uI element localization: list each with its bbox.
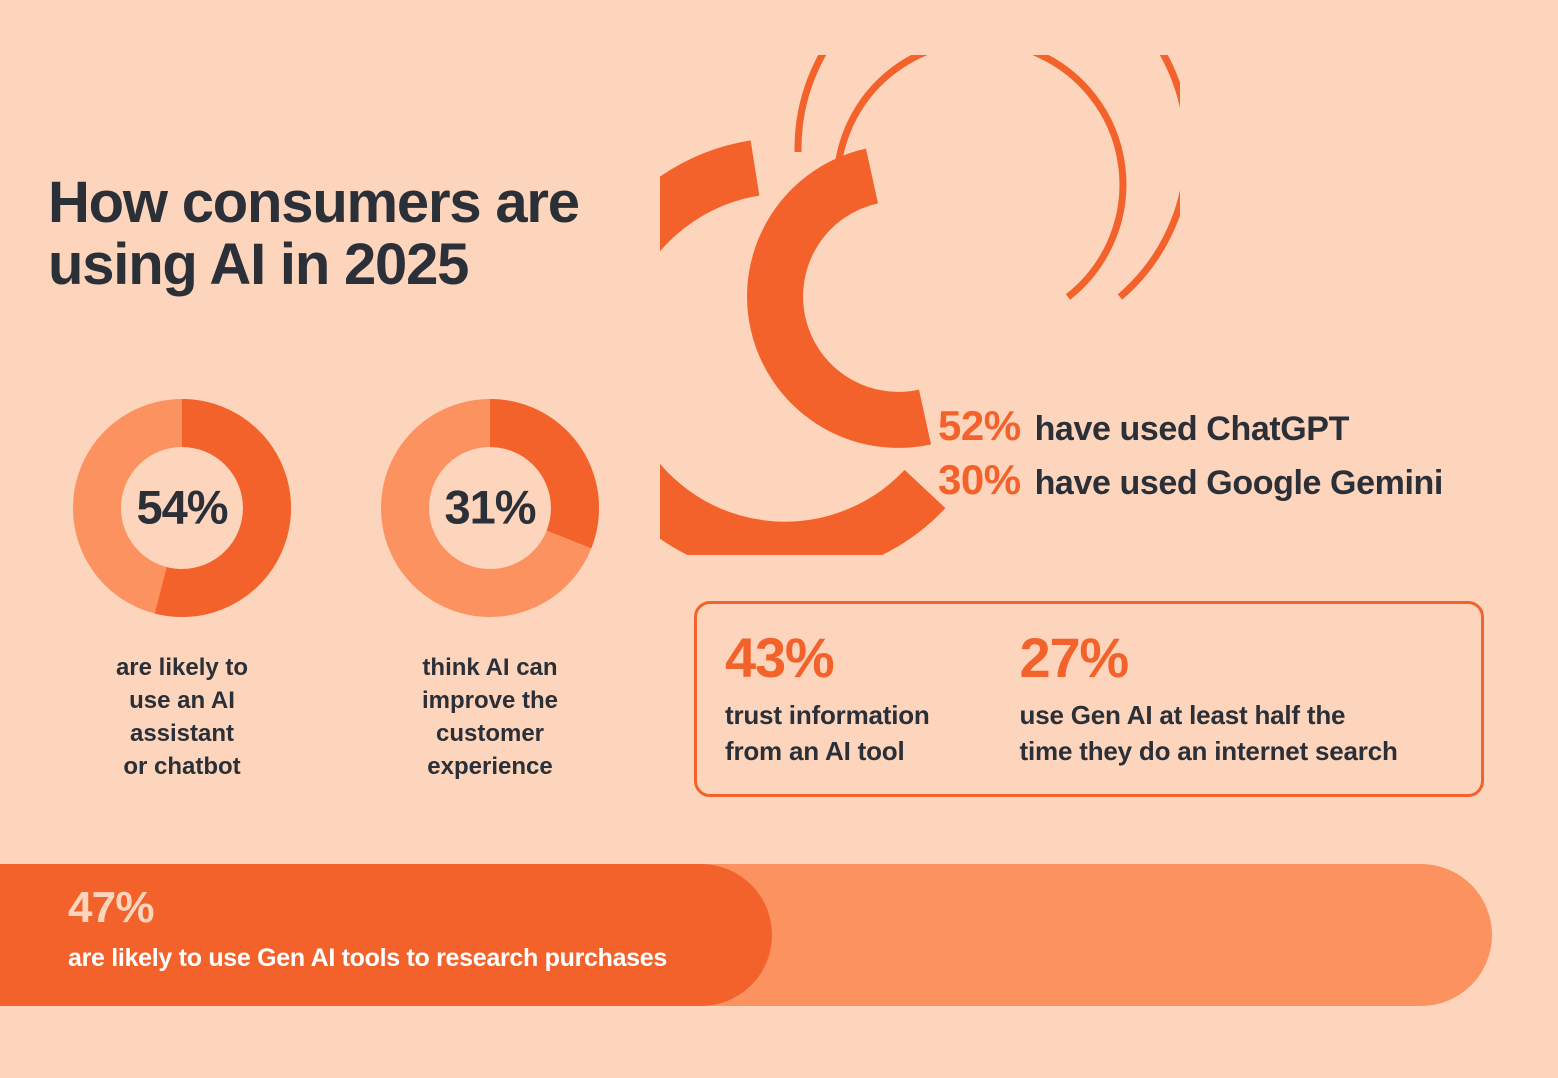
stat-text-1: use Gen AI at least half the time they d…	[1020, 698, 1481, 770]
stat-percent-1: 27%	[1020, 630, 1481, 686]
gauge-legend-percent-0: 52%	[938, 402, 1021, 450]
stat-percent-0: 43%	[725, 630, 1020, 686]
gauge-track-inner	[837, 55, 1123, 297]
progress-bar: 47% are likely to use Gen AI tools to re…	[0, 864, 1492, 1006]
donut-chart-1: 31%	[374, 392, 606, 624]
progress-caption: are likely to use Gen AI tools to resear…	[68, 944, 748, 973]
gauge-legend-row-0: 52% have used ChatGPT	[938, 402, 1538, 450]
donut-stat-1: 31% think AI can improve the customer ex…	[360, 392, 620, 784]
progress-bar-content: 47% are likely to use Gen AI tools to re…	[68, 886, 748, 973]
gauge-legend-percent-1: 30%	[938, 456, 1021, 504]
donut-caption-1: think AI can improve the customer experi…	[360, 652, 620, 784]
donut-value-label-0: 54%	[66, 479, 298, 534]
donut-caption-0: are likely to use an AI assistant or cha…	[52, 652, 312, 784]
gauge-legend: 52% have used ChatGPT 30% have used Goog…	[938, 402, 1538, 510]
stat-item-0: 43% trust information from an AI tool	[725, 630, 1020, 770]
gauge-legend-label-0: have used ChatGPT	[1035, 410, 1349, 449]
gauge-arc-30	[775, 176, 925, 420]
infographic-canvas: How consumers are using AI in 2025 54% a…	[0, 0, 1558, 1078]
page-title: How consumers are using AI in 2025	[48, 172, 668, 296]
donut-value-label-1: 31%	[374, 479, 606, 534]
donut-chart-0: 54%	[66, 392, 298, 624]
stat-item-1: 27% use Gen AI at least half the time th…	[1020, 630, 1481, 770]
stats-box: 43% trust information from an AI tool 27…	[694, 601, 1484, 797]
progress-percent: 47%	[68, 886, 748, 930]
gauge-legend-row-1: 30% have used Google Gemini	[938, 456, 1538, 504]
stat-text-0: trust information from an AI tool	[725, 698, 1020, 770]
donut-stat-0: 54% are likely to use an AI assistant or…	[52, 392, 312, 784]
gauge-legend-label-1: have used Google Gemini	[1035, 464, 1443, 503]
